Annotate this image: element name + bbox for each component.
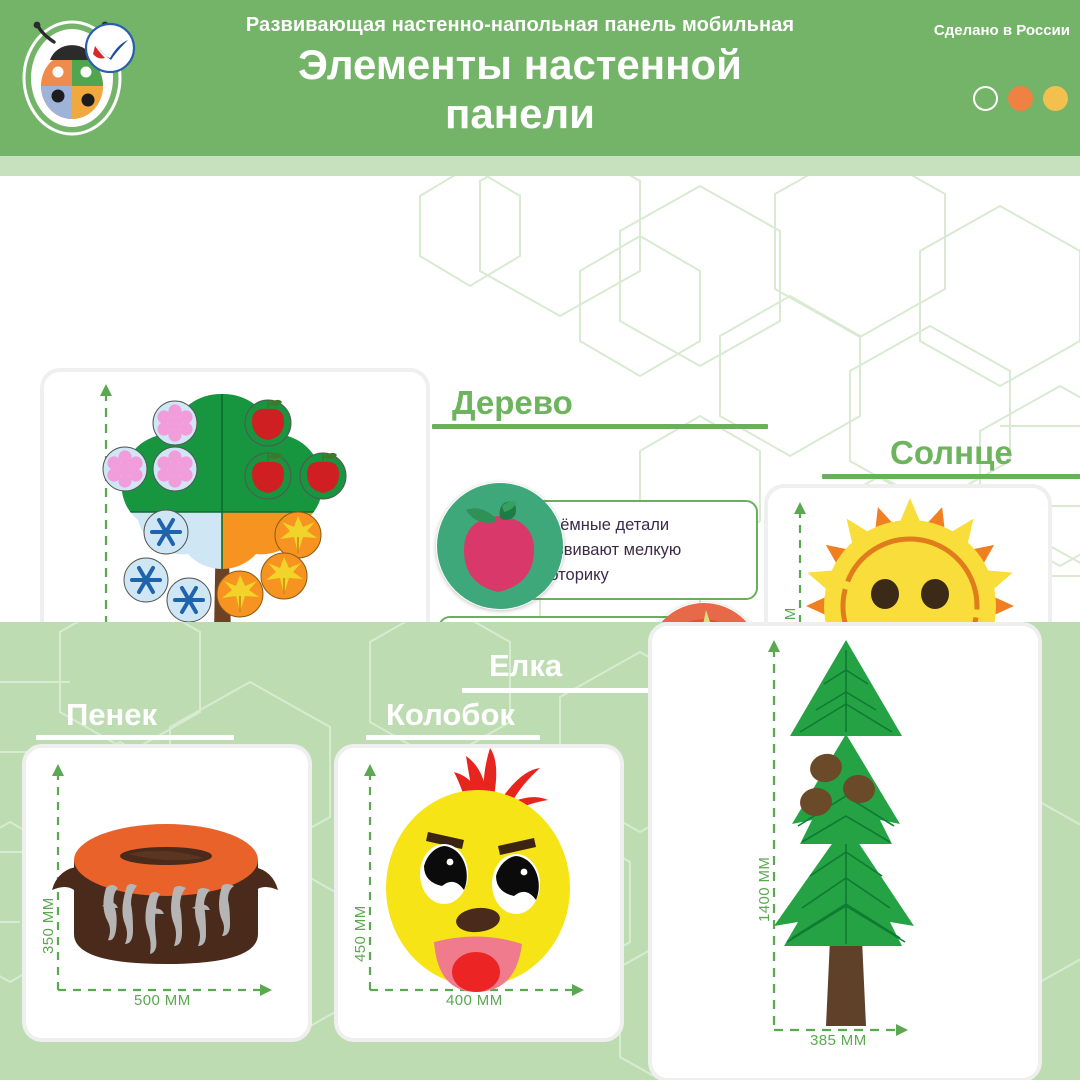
sun-illustration — [768, 488, 1048, 622]
sun-card: 400 ММ 400 ММ — [768, 488, 1048, 622]
page-title: Элементы настенной панели — [150, 40, 890, 138]
kolobok-height-label: 450 ММ — [352, 905, 369, 962]
page-title-line1: Элементы настенной — [150, 40, 890, 89]
section-title-fir: Елка — [489, 648, 562, 684]
section-rule-fir — [462, 688, 662, 693]
dot-yellow-icon — [1043, 86, 1068, 111]
fir-height-label: 1400 ММ — [756, 857, 773, 922]
ladybug-logo — [14, 12, 138, 140]
stump-card: 350 ММ 500 ММ — [26, 748, 308, 1038]
sun-height-label: 400 ММ — [782, 607, 799, 622]
section-title-kolobok: Колобок — [386, 697, 515, 733]
section-rule-tree — [432, 424, 768, 429]
dot-orange-icon — [1008, 86, 1033, 111]
header-dots — [973, 86, 1068, 111]
fir-illustration — [652, 626, 1038, 1078]
section-title-stump: Пенек — [66, 697, 157, 733]
stump-height-label: 350 ММ — [40, 897, 57, 954]
infographic-page: Развивающая настенно-напольная панель мо… — [0, 0, 1080, 1080]
stump-width-label: 500 ММ — [134, 992, 191, 1009]
fir-card: 1400 ММ 385 ММ — [652, 626, 1038, 1078]
header-subtitle: Развивающая настенно-напольная панель мо… — [150, 14, 890, 37]
dot-hollow-icon — [973, 86, 998, 111]
fir-width-label: 385 ММ — [810, 1032, 867, 1049]
made-in-russia-label: Сделано в России — [934, 22, 1070, 39]
apple-photo — [436, 482, 564, 610]
kolobok-width-label: 400 ММ — [446, 992, 503, 1009]
tree-card: 1286 ММ 760 ММ — [44, 372, 426, 622]
section-rule-sun — [822, 474, 1080, 479]
section-title-sun: Солнце — [890, 434, 1013, 472]
section-rule-stump — [36, 735, 234, 740]
header-accent-strip — [0, 156, 1080, 176]
section-title-tree: Дерево — [452, 384, 573, 422]
page-title-line2: панели — [150, 89, 890, 138]
page-header: Развивающая настенно-напольная панель мо… — [0, 0, 1080, 156]
section-rule-kolobok — [366, 735, 540, 740]
tree-illustration — [44, 372, 426, 622]
kolobok-card: 450 ММ 400 ММ — [338, 748, 620, 1038]
top-section: Дерево Солнце — [0, 176, 1080, 622]
